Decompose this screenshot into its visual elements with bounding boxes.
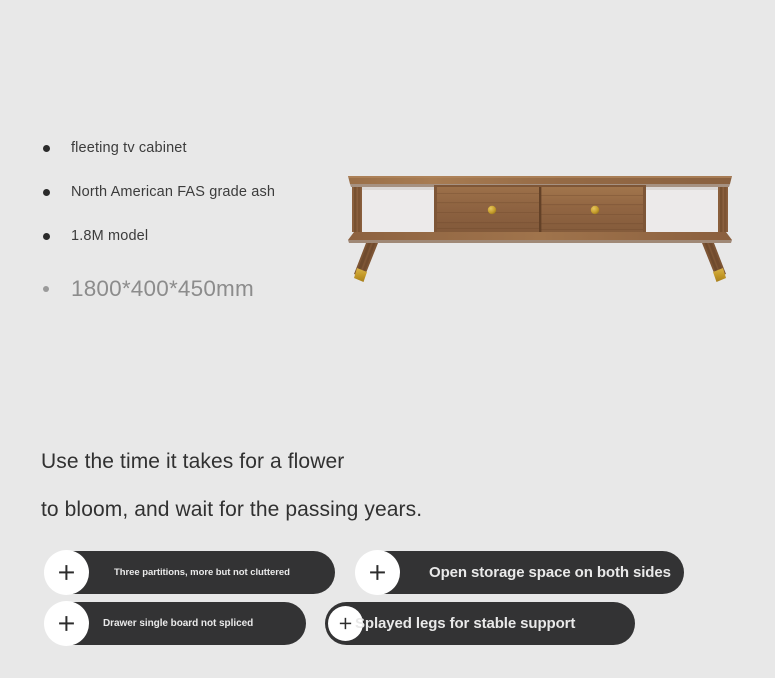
- spec-label: North American FAS grade ash: [71, 184, 275, 200]
- cabinet-leg-left: [354, 243, 378, 282]
- bullet-icon: [43, 189, 50, 196]
- cabinet-leg-right: [702, 243, 726, 282]
- spec-item: fleeting tv cabinet: [40, 126, 330, 170]
- drawer-knob-right: [591, 206, 599, 214]
- feature-pill-open-storage[interactable]: Open storage space on both sides: [356, 551, 684, 594]
- headline: Use the time it takes for a flower to bl…: [41, 438, 731, 534]
- headline-line-2: to bloom, and wait for the passing years…: [41, 486, 731, 534]
- bullet-icon: [43, 233, 50, 240]
- spec-label-dimensions: 1800*400*450mm: [71, 276, 254, 302]
- feature-pill-label: Drawer single board not spliced: [103, 618, 253, 629]
- spec-label: 1.8M model: [71, 228, 148, 244]
- plus-icon[interactable]: [44, 601, 89, 646]
- spec-label: fleeting tv cabinet: [71, 140, 187, 156]
- bullet-icon: [43, 145, 50, 152]
- drawer-knob-left: [488, 206, 496, 214]
- headline-line-1: Use the time it takes for a flower: [41, 438, 731, 486]
- plus-icon[interactable]: [355, 550, 400, 595]
- spec-item-dimensions: 1800*400*450mm: [40, 258, 330, 320]
- feature-pill-label: Open storage space on both sides: [429, 564, 671, 581]
- bullet-icon: [43, 286, 49, 292]
- feature-pill-label: Three partitions, more but not cluttered: [114, 567, 290, 578]
- spec-item: North American FAS grade ash: [40, 170, 330, 214]
- plus-icon[interactable]: [44, 550, 89, 595]
- feature-pill-splayed-legs[interactable]: Splayed legs for stable support: [325, 602, 635, 645]
- product-image-tv-cabinet: [344, 162, 736, 290]
- feature-pill-three-partitions[interactable]: Three partitions, more but not cluttered: [45, 551, 335, 594]
- feature-pill-label: Splayed legs for stable support: [355, 615, 575, 632]
- spec-item: 1.8M model: [40, 214, 330, 258]
- product-spec-list: fleeting tv cabinet North American FAS g…: [40, 126, 330, 320]
- feature-pill-drawer-single-board[interactable]: Drawer single board not spliced: [45, 602, 306, 645]
